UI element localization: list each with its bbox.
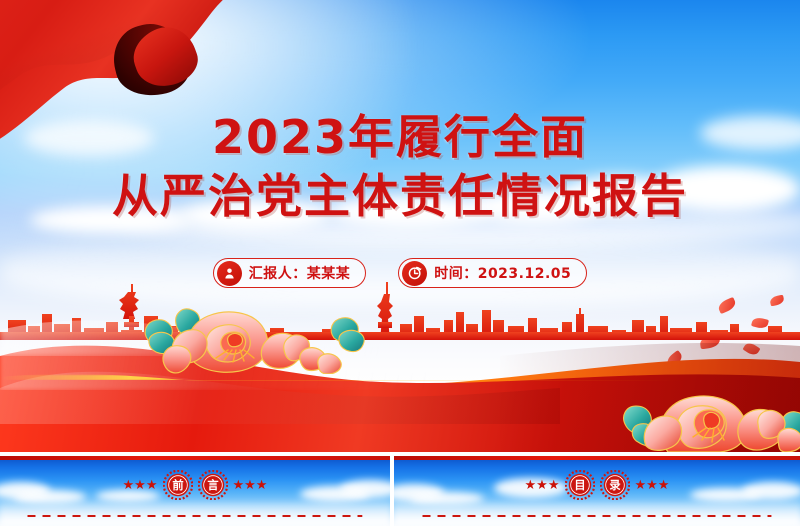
meta-badges: 汇报人：某某某 时间：2023.12.05 (0, 258, 800, 288)
seal-stamp-1: 目 (565, 470, 595, 500)
thumb-title-row: ★★★ 前 言 (0, 470, 390, 500)
main-slide[interactable]: 2023年履行全面 从严治党主体责任情况报告 汇报人：某某某 (0, 0, 800, 452)
peony-flowers-left (140, 288, 370, 374)
thumb-title-row: ★★★ 目 录 (394, 470, 800, 500)
svg-text:录: 录 (609, 478, 621, 492)
page-title: 2023年履行全面 从严治党主体责任情况报告 (0, 108, 800, 226)
cloud-band (0, 502, 390, 526)
seal-stamp-2: 录 (600, 470, 630, 500)
date-label: 时间：2023.12.05 (434, 263, 571, 283)
seal-stamp-2: 言 (198, 470, 228, 500)
date-badge[interactable]: 时间：2023.12.05 (398, 258, 587, 288)
person-icon (217, 261, 242, 286)
presenter-label: 汇报人：某某某 (249, 263, 351, 283)
stars-right: ★★★ (233, 479, 268, 492)
thumbnail-strip: ★★★ 前 言 (0, 452, 800, 526)
stars-right: ★★★ (635, 479, 670, 492)
slide-deck-preview: 2023年履行全面 从严治党主体责任情况报告 汇报人：某某某 (0, 0, 800, 526)
title-line-1: 2023年履行全面 (0, 108, 800, 167)
peony-flowers-right (620, 354, 800, 452)
seal-stamp-1: 前 (163, 470, 193, 500)
thumb-top-bar (394, 456, 800, 460)
thumbnail-contents[interactable]: ★★★ 目 录 (394, 456, 800, 526)
thumb-top-bar (0, 456, 390, 460)
svg-text:言: 言 (207, 478, 218, 492)
title-line-2: 从严治党主体责任情况报告 (0, 167, 800, 226)
presenter-badge[interactable]: 汇报人：某某某 (213, 258, 367, 288)
svg-text:目: 目 (574, 479, 585, 492)
clock-icon (402, 261, 427, 286)
thumbnail-preface[interactable]: ★★★ 前 言 (0, 456, 390, 526)
red-silk-ribbon (0, 267, 800, 452)
cloud-band (394, 502, 800, 526)
thumb-dashed-divider (422, 515, 771, 517)
stars-left: ★★★ (525, 479, 560, 492)
svg-text:前: 前 (172, 478, 183, 492)
thumb-dashed-divider (27, 515, 362, 517)
stars-left: ★★★ (123, 479, 158, 492)
